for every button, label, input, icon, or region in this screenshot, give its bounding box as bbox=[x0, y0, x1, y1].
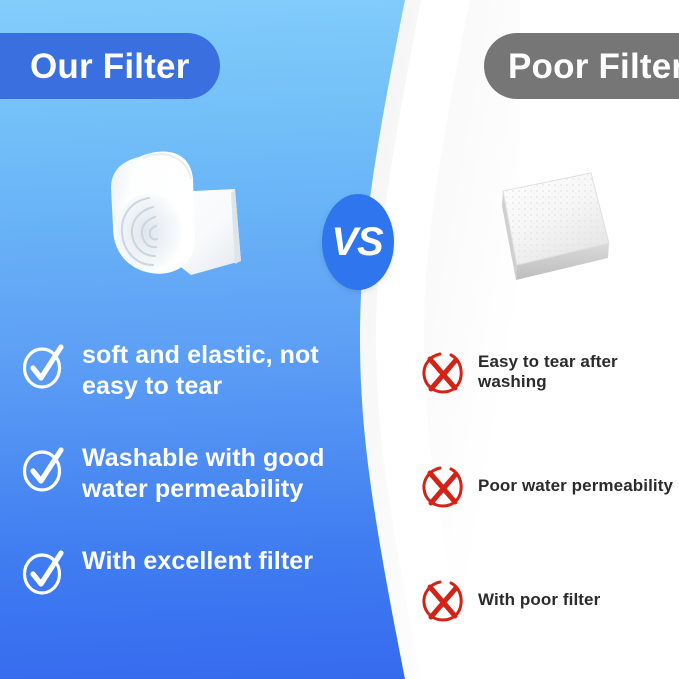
list-item: With poor filter bbox=[420, 576, 675, 624]
list-item: Easy to tear after washing bbox=[420, 348, 675, 396]
cross-circle-icon bbox=[420, 576, 466, 624]
list-item-label: Washable with good water permeability bbox=[82, 443, 350, 504]
list-item-label: With excellent filter bbox=[82, 546, 313, 577]
cross-circle-icon bbox=[420, 348, 466, 396]
check-circle-icon bbox=[20, 342, 66, 390]
list-item: Washable with good water permeability bbox=[20, 443, 350, 504]
our-filter-feature-list: soft and elastic, not easy to tear Washa… bbox=[20, 340, 350, 596]
list-item-label: Poor water permeability bbox=[478, 476, 673, 496]
poor-filter-badge-label: Poor Filter bbox=[508, 49, 679, 84]
cross-circle-icon bbox=[420, 462, 466, 510]
poor-filter-feature-list: Easy to tear after washing Poor water pe… bbox=[420, 348, 675, 624]
list-item: Poor water permeability bbox=[420, 462, 675, 510]
vs-badge-icon: VS bbox=[322, 194, 394, 290]
list-item: With excellent filter bbox=[20, 546, 350, 596]
rolled-filter-media-image bbox=[95, 135, 255, 290]
check-circle-icon bbox=[20, 548, 66, 596]
list-item-label: With poor filter bbox=[478, 590, 600, 610]
vs-label: VS bbox=[331, 222, 382, 262]
list-item-label: soft and elastic, not easy to tear bbox=[82, 340, 350, 401]
our-filter-badge: Our Filter bbox=[0, 33, 220, 99]
list-item-label: Easy to tear after washing bbox=[478, 352, 675, 393]
our-filter-badge-label: Our Filter bbox=[30, 49, 190, 84]
list-item: soft and elastic, not easy to tear bbox=[20, 340, 350, 401]
poor-filter-badge: Poor Filter bbox=[484, 33, 679, 99]
check-circle-icon bbox=[20, 445, 66, 493]
foam-pad-image bbox=[487, 165, 620, 290]
infographic-stage: Our Filter Poor Filter bbox=[0, 0, 679, 679]
